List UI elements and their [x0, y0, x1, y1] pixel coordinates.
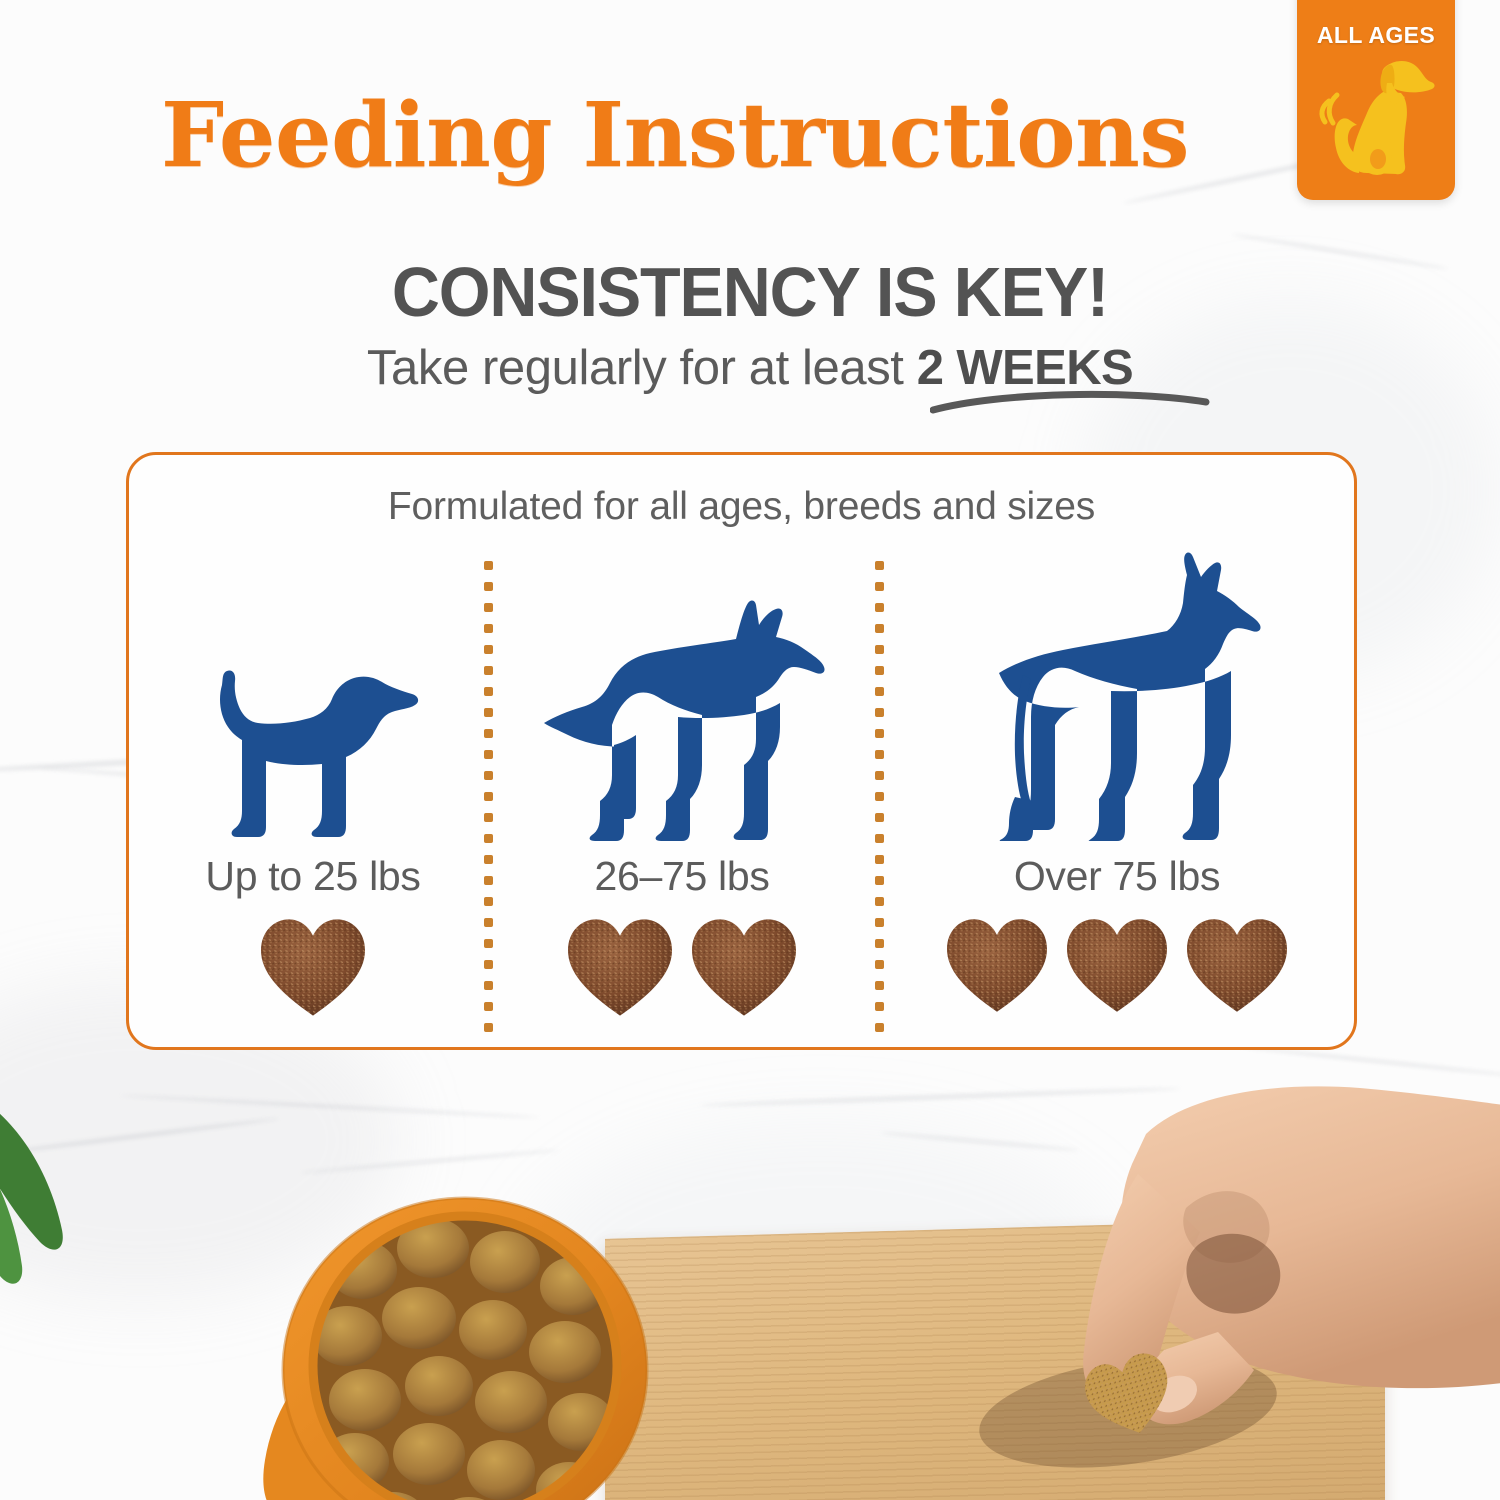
- size-label-medium: 26–75 lbs: [495, 853, 869, 900]
- heart-treat-icon: [688, 916, 800, 1020]
- treat-row-large: [889, 916, 1345, 1016]
- large-dog-icon: [971, 551, 1263, 841]
- medium-dog-icon: [538, 599, 826, 841]
- treat-row-small: [145, 916, 481, 1020]
- size-label-large: Over 75 lbs: [889, 853, 1345, 900]
- size-label-small: Up to 25 lbs: [145, 853, 481, 900]
- size-column-small: Up to 25 lbs: [145, 551, 481, 1031]
- hand-holding-treat: [950, 1082, 1500, 1500]
- heart-treat-icon: [257, 916, 369, 1020]
- heart-treat-icon: [1063, 916, 1171, 1016]
- orange-kibble-bowl: [243, 1190, 663, 1500]
- heart-treat-icon: [943, 916, 1051, 1016]
- subline: Take regularly for at least 2 WEEKS: [0, 340, 1500, 396]
- infographic-root: ALL AGES Feeding Instructions CONS: [0, 0, 1500, 1500]
- small-dog-icon: [204, 665, 422, 841]
- hand-drawn-underline: [930, 386, 1210, 414]
- subline-prefix: Take regularly for at least: [367, 341, 904, 395]
- size-column-medium: 26–75 lbs: [495, 551, 869, 1031]
- column-divider-2: [875, 561, 884, 1031]
- all-ages-badge-label: ALL AGES: [1317, 22, 1435, 49]
- size-column-large: Over 75 lbs: [889, 551, 1345, 1031]
- feeding-chart-panel: Formulated for all ages, breeds and size…: [126, 452, 1357, 1050]
- headline: CONSISTENCY IS KEY!: [38, 252, 1463, 332]
- panel-caption: Formulated for all ages, breeds and size…: [129, 485, 1354, 529]
- page-title: Feeding Instructions: [0, 82, 1350, 187]
- product-photo: [0, 1050, 1500, 1500]
- heart-treat-icon: [1183, 916, 1291, 1016]
- green-plant-leaves: [0, 1080, 170, 1410]
- heart-treat-icon: [564, 916, 676, 1020]
- treat-row-medium: [495, 916, 869, 1020]
- column-divider-1: [484, 561, 493, 1031]
